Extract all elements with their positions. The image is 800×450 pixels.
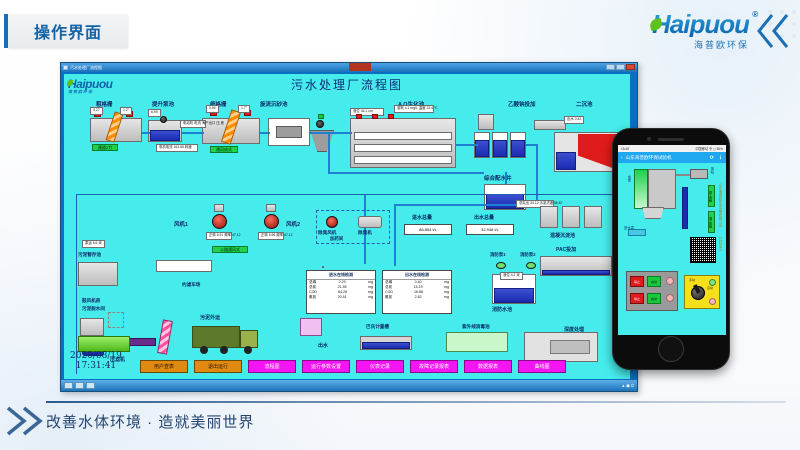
os-taskbar[interactable]: ▲ ◼ ⏻ (61, 380, 637, 391)
raw-water-level-bar (634, 169, 648, 209)
inlet-unit-3: mg (368, 295, 373, 300)
phone-start-button-1[interactable]: 启动 (647, 276, 661, 287)
outlet-value-3: 2.82 (415, 295, 422, 300)
green-tag-3[interactable]: 公路通风式 (212, 246, 248, 253)
hmi-button-bar[interactable]: 用户查表 退出运行 流程图 运行参数设置 仪表记录 故障记录报表 数据报表 曲线… (64, 360, 630, 373)
pac-dosing-water (542, 270, 610, 275)
label-blower-2: 风机2 (286, 220, 300, 228)
button-user-table[interactable]: 用户查表 (140, 360, 188, 373)
fire-pump-1[interactable] (496, 262, 506, 269)
inlet-row: 氨氮20.51mg (307, 295, 375, 300)
phone-status-bar: 15:48 中国移动 令 ◻ 85% (618, 145, 726, 152)
phone-filter-unit (642, 207, 664, 219)
ao-tag-2: 溶氧 4.1 mg/L 温度 23.4 ℃ (394, 105, 434, 113)
window-controls[interactable] (606, 64, 635, 70)
ao-lane-2 (354, 144, 452, 152)
pipe-segment (310, 132, 352, 134)
brand-logo: Haipuou ® 海普欧环保 (652, 8, 790, 54)
phone-knob-label-manual: 手动 (689, 278, 695, 282)
deodor-fan-motor[interactable] (326, 216, 338, 228)
truck-wheel (200, 346, 208, 354)
label-fire-pump-1: 消防泵1 (490, 252, 506, 258)
phone-knob-panel[interactable]: 手动 自动 (684, 275, 720, 309)
phone-indicator-lamp-2 (666, 294, 674, 302)
blower-1-motor[interactable] (212, 214, 227, 229)
button-run-parameters[interactable]: 运行参数设置 (302, 360, 350, 373)
button-data-report[interactable]: 数据报表 (464, 360, 512, 373)
phone-stop-button-1[interactable]: 停止 (630, 276, 644, 287)
inlet-monitor-panel: 进水在线检测 总磷2.29mg 总氮21.55mg COD84.28mg 氨氮2… (306, 270, 376, 314)
phone-nav-title: 山东海普欧环保试验机 (626, 155, 672, 161)
blower-1-housing (214, 204, 224, 212)
fine-screen-tag-1: 0.50 (206, 105, 219, 113)
phone-status-indicators: 中国移动 令 ◻ 85% (695, 146, 723, 151)
flow-meter-2-value: 32.948 t/L (466, 224, 514, 235)
brand-wordmark: Haipuou ® 海普欧环保 (652, 11, 749, 51)
maximize-button[interactable] (616, 64, 625, 70)
phone-speaker (658, 138, 684, 141)
flow-meter-1-label: 进水总量 (412, 214, 432, 221)
taskbar-item-icon[interactable] (86, 382, 95, 389)
phone-selector-knob[interactable] (691, 286, 705, 300)
press-screw (157, 319, 173, 354)
phone-screen[interactable]: 15:48 中国移动 令 ◻ 85% ‹ 山东海普欧环保试验机 ⟳ ⋮ 水泵 风… (618, 145, 726, 335)
lift-pump-motor[interactable] (160, 116, 167, 123)
truck-wheel (220, 346, 228, 354)
phone-equipment-unit (690, 169, 708, 179)
coarse-screen-tag-1: 3.27 (90, 107, 103, 115)
close-button[interactable] (626, 64, 635, 70)
button-exit-run[interactable]: 退出运行 (194, 360, 242, 373)
phone-label-inlet-pump: 进水泵 (624, 225, 634, 230)
phone-side-text: 山东海普欧环保设备有限公司 (718, 183, 723, 227)
label-distribution-well: 综合配水井 (484, 174, 512, 182)
phone-indicator-lamp-1 (666, 277, 674, 285)
sludge-storage-tag: 泵运 6.6 米 (82, 240, 105, 248)
phone-knob-label-auto: 自动 (707, 286, 713, 290)
phone-nav-actions[interactable]: ⟳ ⋮ (710, 155, 723, 161)
fire-tank-tag: 液位 4.2 米 (500, 272, 523, 280)
sodium-acetate-liquid-1 (475, 140, 489, 157)
brand-name-text: Haipuou (652, 9, 749, 39)
outlet-monitor-panel: 出水在线检测 总磷0.40mg 总氮15.19mg COD16.88mg 氨氮2… (382, 270, 452, 314)
fire-pump-2[interactable] (526, 262, 536, 269)
stage-label-grit-chamber: 旋流沉砂池 (260, 100, 288, 108)
refresh-icon[interactable]: ⟳ (710, 155, 714, 161)
ao-status-2[interactable] (372, 114, 378, 119)
brand-chinese: 海普欧环保 (694, 38, 749, 51)
green-tag-1[interactable]: 通道2力 (92, 144, 118, 151)
hmi-canvas[interactable]: Haipuou 海普欧环保 污水处理厂流程图 粗格栅 提升泵池 细格栅 旋流沉砂… (64, 74, 630, 379)
button-flow-diagram[interactable]: 流程图 (248, 360, 296, 373)
label-uv-disinfection: 紫外线消毒池 (462, 324, 490, 330)
outlet-row: 氨氮2.82mg (383, 295, 451, 300)
dewatering-unit (80, 318, 104, 336)
ao-status-1[interactable] (356, 114, 362, 119)
label-sludge-transport: 污泥外运 (200, 314, 220, 321)
ao-lane-3 (354, 156, 452, 164)
pipe-segment (505, 172, 507, 184)
phone-hmi-canvas[interactable]: 水泵 风机 原水箱 清水箱 山东海普欧环保设备有限公司 进水泵 扫码关注 停止 … (618, 163, 726, 335)
blower-1-tag: 正转 6.91 频率 47.12 (206, 232, 232, 240)
back-icon[interactable]: ‹ (621, 155, 623, 161)
pipe-segment (526, 144, 536, 146)
ao-status-3[interactable] (388, 114, 394, 119)
taskbar-item-icon[interactable] (75, 382, 84, 389)
label-press-yard: 约滤车场 (182, 282, 200, 288)
grit-chamber-inner (276, 126, 302, 138)
outlet-unit-3: mg (444, 295, 449, 300)
sodium-acetate-hopper (478, 114, 494, 130)
label-blower-1: 风机1 (174, 220, 188, 228)
label-sludge-storage: 污泥暂存池 (78, 252, 101, 258)
coagulation-cell-3 (584, 206, 602, 228)
outlet-monitor-title: 出水在线检测 (383, 271, 451, 280)
label-dewatering-room: 污泥脱水间 (82, 306, 105, 312)
stage-label-lift-pump: 提升泵池 (152, 100, 174, 108)
fine-screen-motor-tag: 电动机 电流 海户出口 压 差 (180, 120, 206, 128)
chemical-tank (300, 318, 322, 336)
phone-label-fan: 风机 (710, 167, 715, 174)
button-fault-log-report[interactable]: 故障记录报表 (410, 360, 458, 373)
uv-channel (446, 332, 508, 352)
label-blower-house: 鼓风机房 (82, 298, 100, 304)
phone-stop-button-2[interactable]: 停止 (630, 293, 644, 304)
fire-water-level (494, 288, 534, 303)
blower-2-motor[interactable] (264, 214, 279, 229)
coagulation-cell-2 (562, 206, 580, 228)
label-dosing-room: 加药间 (330, 236, 343, 242)
button-trend-chart[interactable]: 曲线图 (518, 360, 566, 373)
label-pac-dosing: PAC投加 (556, 246, 576, 253)
blower-2-housing (266, 204, 276, 212)
phone-scan-label: 扫码关注 (718, 237, 723, 251)
stage-label-sodium-acetate: 乙酸钠投加 (508, 100, 536, 108)
label-parshall-flume: 巴氏计量槽 (366, 324, 389, 330)
label-fire-pump-2: 消防泵2 (520, 252, 536, 258)
pipe-bus-left (76, 194, 77, 374)
taskbar-tray[interactable]: ▲ ◼ ⏻ (621, 383, 634, 388)
phone-home-button[interactable] (658, 336, 684, 362)
ao-lane-1 (354, 132, 452, 140)
phone-control-panel[interactable]: 停止 启动 停止 启动 (626, 271, 678, 311)
sludge-storage-tank (78, 262, 118, 286)
inlet-monitor-title: 进水在线检测 (307, 271, 375, 280)
label-coagulation-tank: 混凝沉淀池 (550, 232, 575, 239)
sodium-acetate-liquid-3 (511, 140, 525, 157)
flow-meter-2-label: 出水总量 (474, 214, 494, 221)
effluent-green-bar (78, 336, 130, 352)
green-tag-2[interactable]: 通风成式 (210, 146, 238, 153)
blower-2-tag: 正转 6.96 频率 47.12 (258, 232, 284, 240)
sodium-acetate-liquid-2 (493, 140, 507, 157)
deodor-unit (358, 216, 382, 228)
stage-label-secondary-clarifier: 二沉池 (576, 100, 593, 108)
lift-pump-tag: 6.59 (148, 109, 161, 117)
registered-mark: ® (752, 11, 757, 19)
scada-window[interactable]: 污水处理厂流程图 Haipuou 海普欧环保 污水处理厂流程图 粗格栅 提升泵池… (60, 62, 638, 392)
secondary-clarifier-bridge (534, 120, 566, 130)
label-deodor-unit: 除臭机 (358, 230, 372, 236)
phone-navbar[interactable]: ‹ 山东海普欧环保试验机 ⟳ ⋮ (618, 152, 726, 163)
pipe-segment (536, 144, 538, 204)
minimize-button[interactable] (606, 64, 615, 70)
double-chevron-right-icon (4, 404, 48, 438)
phone-column (682, 187, 688, 229)
pipe-segment (456, 144, 478, 146)
label-effluent: 出水 (318, 342, 328, 349)
pipe-segment (394, 204, 536, 206)
footer-tagline: 改善水体环境 · 造就美丽世界 (46, 411, 254, 432)
inlet-name-3: 氨氮 (309, 295, 316, 300)
secondary-clarifier-tag: 出水 0.42 (564, 116, 584, 124)
truck-body (192, 326, 240, 348)
outlet-name-3: 氨氮 (385, 295, 392, 300)
press-yard-box (156, 260, 212, 272)
phone-green-tag-raw[interactable]: 原水箱 (708, 185, 715, 207)
window-tab-stub (349, 63, 371, 71)
deep-treatment-inner (550, 340, 590, 354)
label-fire-water-pool: 消防水池 (492, 306, 512, 313)
truck-wheel (244, 346, 252, 354)
phone-camera (647, 137, 651, 141)
brand-name: Haipuou ® (652, 11, 749, 37)
pipe-segment (328, 172, 484, 174)
phone-status-time: 15:48 (621, 147, 629, 151)
spacer (322, 266, 324, 268)
pipe-segment (328, 132, 330, 172)
window-titlebar[interactable]: 污水处理厂流程图 (61, 63, 637, 72)
mobile-phone[interactable]: 15:48 中国移动 令 ◻ 85% ‹ 山东海普欧环保试验机 ⟳ ⋮ 水泵 风… (612, 128, 730, 370)
more-icon[interactable]: ⋮ (718, 155, 723, 161)
phone-start-button-2[interactable]: 启动 (647, 293, 661, 304)
hmi-title: 污水处理厂流程图 (64, 76, 630, 93)
window-title-text: 污水处理厂流程图 (70, 65, 102, 71)
flow-meter-1-value: 88.854 t/L (404, 224, 452, 235)
lift-pump-meter-tag: 电机电流 163.65 转速 (156, 144, 198, 152)
clarifier-water (556, 152, 576, 170)
taskbar-start-icon[interactable] (64, 382, 73, 389)
pipe-segment (394, 204, 396, 266)
phone-knob-lamp-red (709, 298, 716, 305)
page-title: 操作界面 (8, 14, 128, 48)
grit-motor[interactable] (316, 120, 324, 128)
pipe-segment (260, 132, 270, 134)
window-app-icon (63, 65, 68, 70)
fine-screen-tag-2: 1.7" (238, 105, 250, 113)
page-title-label: 操作界面 (34, 19, 102, 43)
raw-water-tank (648, 169, 676, 209)
lift-pump-water (150, 130, 180, 141)
inlet-value-3: 20.51 (338, 295, 347, 300)
grit-status[interactable] (318, 114, 324, 119)
phone-label-pump: 水泵 (627, 175, 632, 182)
qr-code[interactable] (690, 237, 716, 263)
footer-divider (46, 401, 786, 403)
phone-green-tag-clean[interactable]: 清水箱 (708, 211, 715, 233)
button-instrument-log[interactable]: 仪表记录 (356, 360, 404, 373)
pipe-segment (142, 132, 150, 134)
pipe-bus-top (76, 194, 620, 195)
pipe-segment (182, 132, 204, 134)
coarse-screen-tag-2: 1.2" (120, 107, 132, 115)
press-frame (108, 312, 124, 328)
chevron-left-icon (756, 11, 790, 51)
coagulation-cell-1 (540, 206, 558, 228)
phone-knob-lamp-green (709, 279, 716, 286)
phone-pipe (676, 174, 690, 176)
phone-inlet-pump[interactable] (628, 229, 646, 236)
parshall-water (362, 342, 410, 349)
